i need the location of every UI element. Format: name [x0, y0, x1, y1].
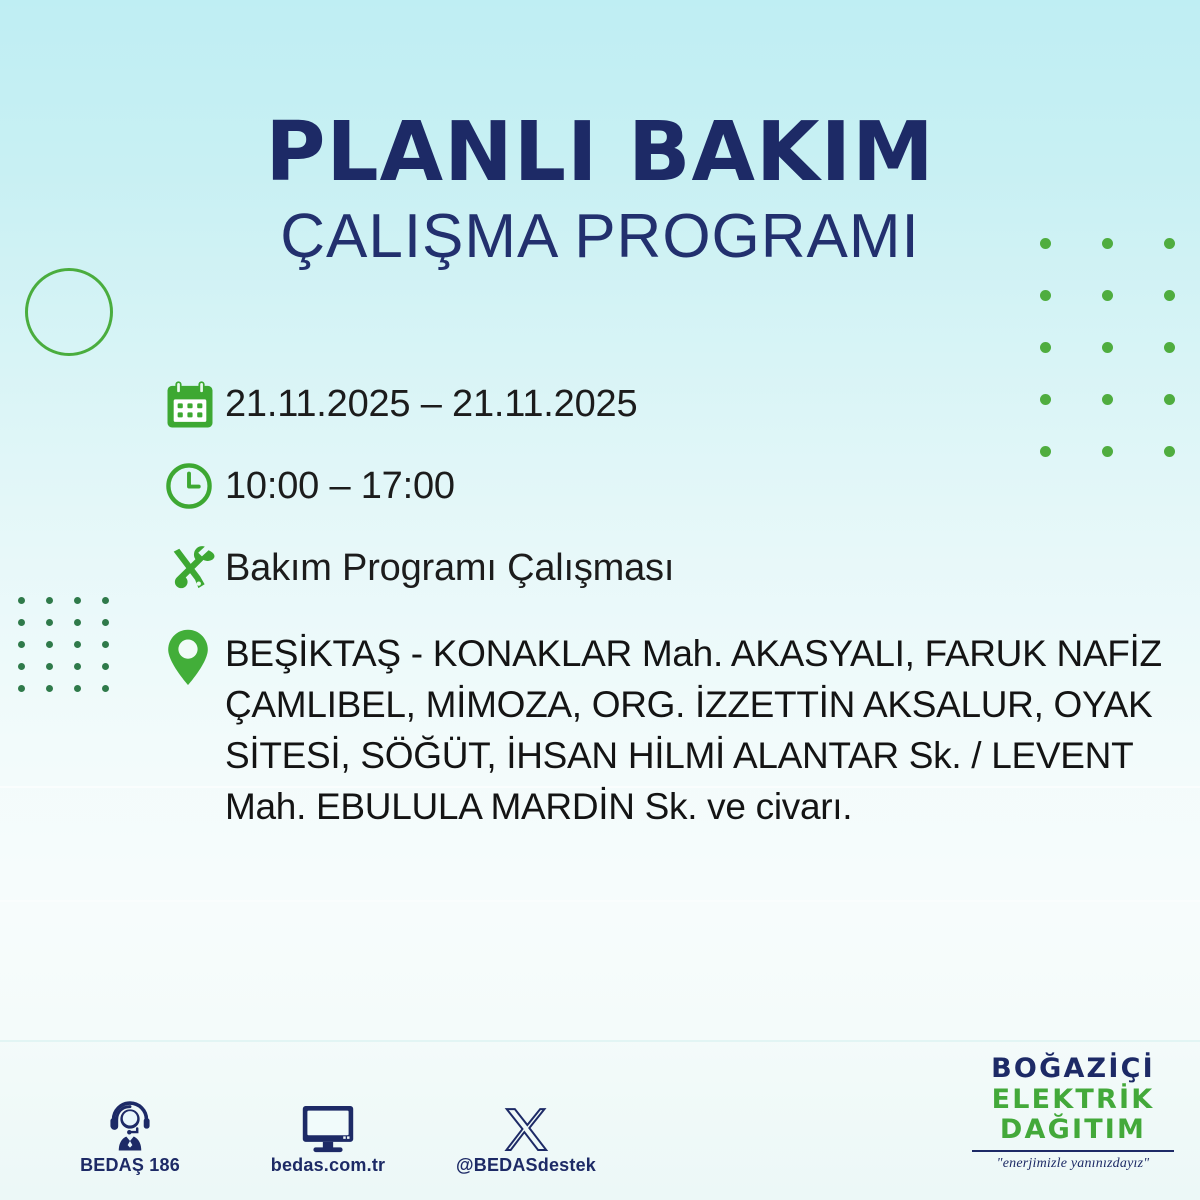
address-line: SİTESİ, SÖĞÜT, İHSAN HİLMİ ALANTAR Sk. /…: [225, 730, 1130, 781]
brand-line-elektrik: ELEKTRİK: [968, 1085, 1178, 1115]
map-pin-icon: [163, 628, 225, 688]
contact-website-label: bedas.com.tr: [271, 1155, 385, 1175]
info-block: 21.11.2025 – 21.11.2025 10:00 – 17:00: [163, 378, 1163, 832]
address-text: BEŞİKTAŞ - KONAKLAR Mah. AKASYALI, FARUK…: [225, 628, 1130, 832]
tools-icon: [163, 542, 225, 602]
date-range-text: 21.11.2025 – 21.11.2025: [225, 378, 637, 427]
page-title: PLANLI BAKIM: [0, 112, 1200, 194]
background-band: [0, 900, 1200, 902]
info-row-date: 21.11.2025 – 21.11.2025: [163, 378, 1163, 438]
brand-tagline: "enerjimizle yanınızdayız": [968, 1156, 1178, 1172]
address-line: BEŞİKTAŞ - KONAKLAR Mah. AKASYALI, FARUK…: [225, 628, 1130, 679]
address-line: Mah. EBULULA MARDİN Sk. ve civarı.: [225, 781, 1130, 832]
calendar-icon: [163, 378, 225, 438]
contact-x-account[interactable]: @BEDASdestek: [456, 1093, 596, 1176]
brand-line-dagitim: DAĞITIM: [968, 1115, 1178, 1145]
contact-phone[interactable]: BEDAŞ 186: [60, 1093, 200, 1176]
footer-contacts: BEDAŞ 186 bedas.com.tr @B: [60, 1093, 596, 1176]
poster-canvas: PLANLI BAKIM ÇALIŞMA PROGRAMI: [0, 0, 1200, 1200]
info-row-work-type: Bakım Programı Çalışması: [163, 542, 1163, 602]
dot-grid-decoration-left: [18, 597, 130, 707]
brand-line-bogazici: BOĞAZİÇİ: [968, 1054, 1178, 1084]
time-range-text: 10:00 – 17:00: [225, 460, 455, 509]
contact-website[interactable]: bedas.com.tr: [258, 1093, 398, 1176]
contact-phone-label: BEDAŞ 186: [80, 1155, 180, 1175]
circle-outline-decoration: [25, 268, 113, 356]
page-subtitle: ÇALIŞMA PROGRAMI: [0, 204, 1200, 269]
info-row-time: 10:00 – 17:00: [163, 460, 1163, 520]
x-twitter-icon: [456, 1093, 596, 1155]
brand-divider: [972, 1150, 1174, 1152]
address-line: ÇAMLIBEL, MİMOZA, ORG. İZZETTİN AKSALUR,…: [225, 679, 1130, 730]
poster-header: PLANLI BAKIM ÇALIŞMA PROGRAMI: [0, 112, 1200, 269]
contact-x-label: @BEDASdestek: [456, 1155, 596, 1175]
monitor-icon: [258, 1093, 398, 1155]
info-row-address: BEŞİKTAŞ - KONAKLAR Mah. AKASYALI, FARUK…: [163, 628, 1163, 832]
brand-logo: BOĞAZİÇİ ELEKTRİK DAĞITIM "enerjimizle y…: [968, 1054, 1178, 1172]
background-band: [0, 1040, 1200, 1042]
clock-icon: [163, 460, 225, 520]
support-agent-icon: [60, 1093, 200, 1155]
work-type-text: Bakım Programı Çalışması: [225, 542, 674, 591]
